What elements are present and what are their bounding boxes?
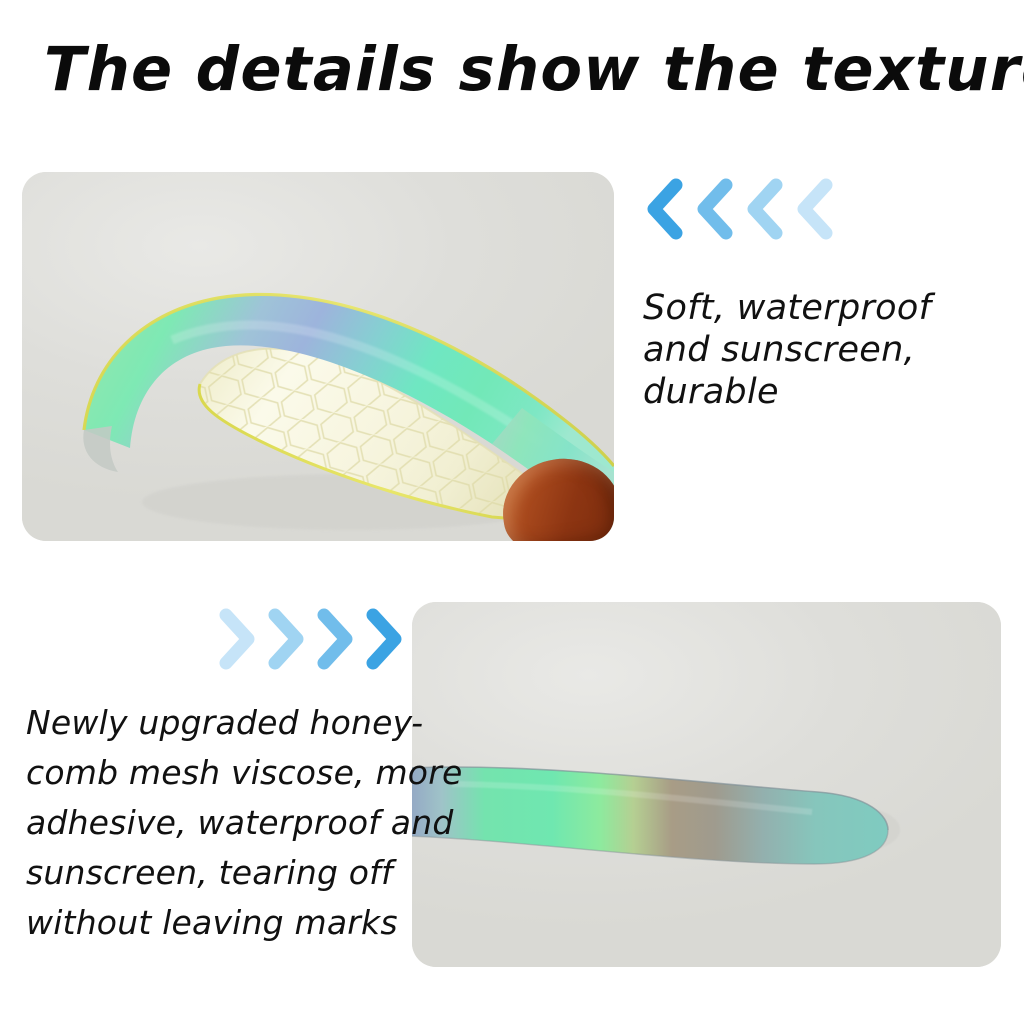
chevron-right-icon [214, 608, 260, 670]
chevrons-left-pointing [640, 178, 836, 240]
chevron-right-icon [263, 608, 309, 670]
chevron-left-icon [790, 178, 836, 240]
looped-holographic-tape-photo [22, 172, 614, 541]
feature-line: comb mesh viscose, more [26, 748, 406, 798]
chevron-left-icon [690, 178, 736, 240]
chevron-right-icon [361, 608, 407, 670]
chevron-right-icon [312, 608, 358, 670]
honeycomb-mesh-feature: Newly upgraded honey- comb mesh viscose,… [26, 698, 406, 948]
soft-waterproof-feature: Soft, waterproof and sunscreen, durable [643, 287, 1003, 413]
feature-line: sunscreen, tearing off [26, 848, 406, 898]
holographic-strip [412, 767, 888, 864]
tapered-holographic-strip-photo [412, 602, 1001, 967]
feature-line: without leaving marks [26, 898, 406, 948]
feature-line: adhesive, waterproof and [26, 798, 406, 848]
feature-line: and sunscreen, [643, 329, 1003, 371]
feature-line: durable [643, 371, 1003, 413]
page-title: The details show the texture [44, 38, 979, 102]
feature-line: Newly upgraded honey- [26, 698, 406, 748]
chevron-left-icon [640, 178, 686, 240]
feature-line: Soft, waterproof [643, 287, 1003, 329]
tapered-strip-svg [412, 602, 1001, 967]
chevrons-right-pointing [214, 608, 407, 670]
chevron-left-icon [740, 178, 786, 240]
